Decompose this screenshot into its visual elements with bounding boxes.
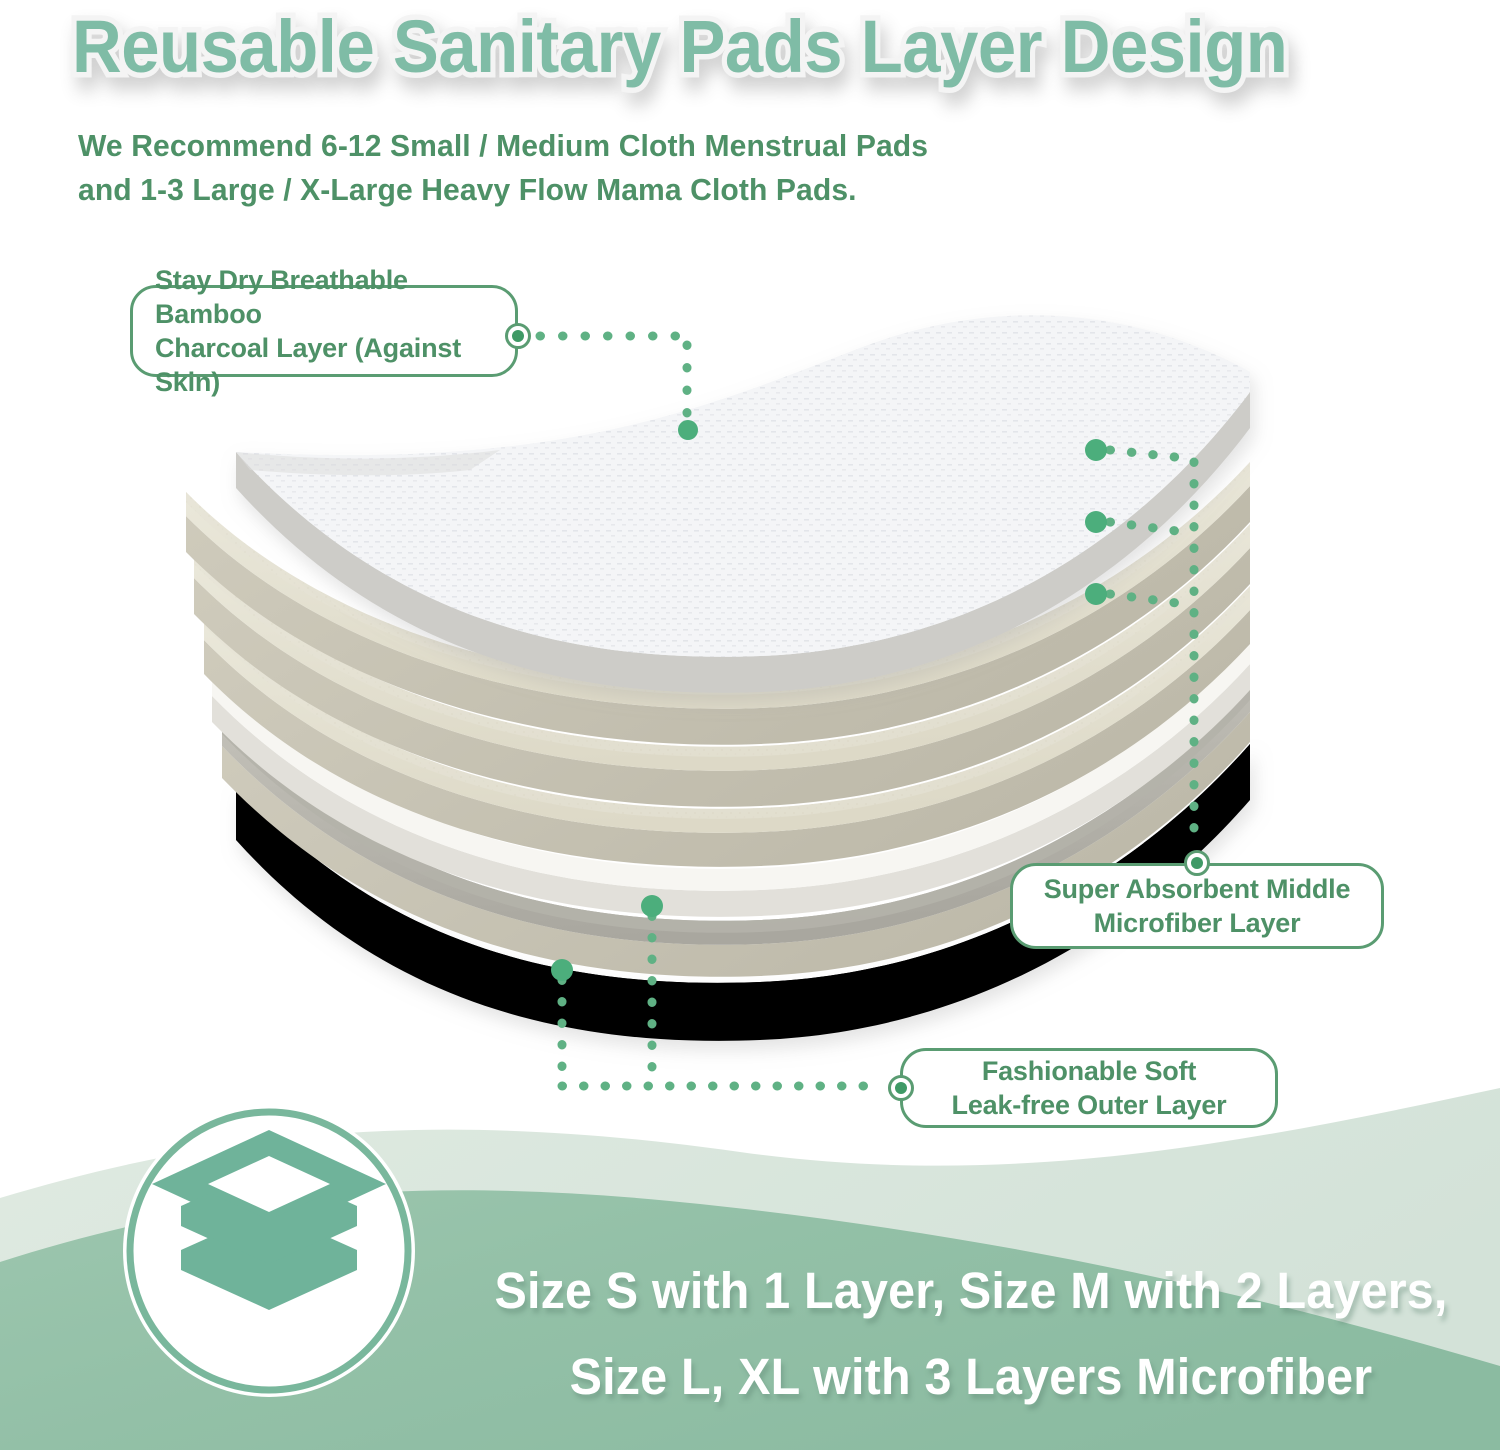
connector-bottom-endpoint-2 <box>551 959 573 981</box>
title-block: Reusable Sanitary Pads Layer Design <box>0 0 1500 100</box>
callout-top-connector-dot-icon <box>505 323 531 349</box>
callout-middle-connector-dot-icon <box>1184 850 1210 876</box>
connector-bottom-endpoint-1 <box>641 895 663 917</box>
connector-middle-endpoint-1 <box>1085 439 1107 461</box>
layer-microfiber-2 <box>194 524 1250 807</box>
connector-middle-endpoint-3 <box>1085 583 1107 605</box>
callout-bamboo-charcoal-layer: Stay Dry Breathable Bamboo Charcoal Laye… <box>130 285 518 377</box>
layer-microfiber-3 <box>204 586 1250 867</box>
layers-badge <box>118 1100 420 1402</box>
infographic-canvas: Reusable Sanitary Pads Layer Design We R… <box>0 0 1500 1450</box>
subtitle-text: We Recommend 6-12 Small / Medium Cloth M… <box>78 124 928 212</box>
connector-bottom <box>562 916 884 1086</box>
connector-middle <box>1110 450 1194 840</box>
page-title: Reusable Sanitary Pads Layer Design <box>72 4 1287 89</box>
connector-middle-endpoint-2 <box>1085 511 1107 533</box>
connector-top <box>540 336 687 420</box>
layer-microfiber-1 <box>186 462 1250 745</box>
connector-top-endpoint <box>678 420 698 440</box>
callout-bottom-connector-dot-icon <box>888 1075 914 1101</box>
footer-size-info: Size S with 1 Layer, Size M with 2 Layer… <box>491 1248 1451 1420</box>
callout-leak-free-outer-layer: Fashionable Soft Leak-free Outer Layer <box>900 1048 1278 1128</box>
